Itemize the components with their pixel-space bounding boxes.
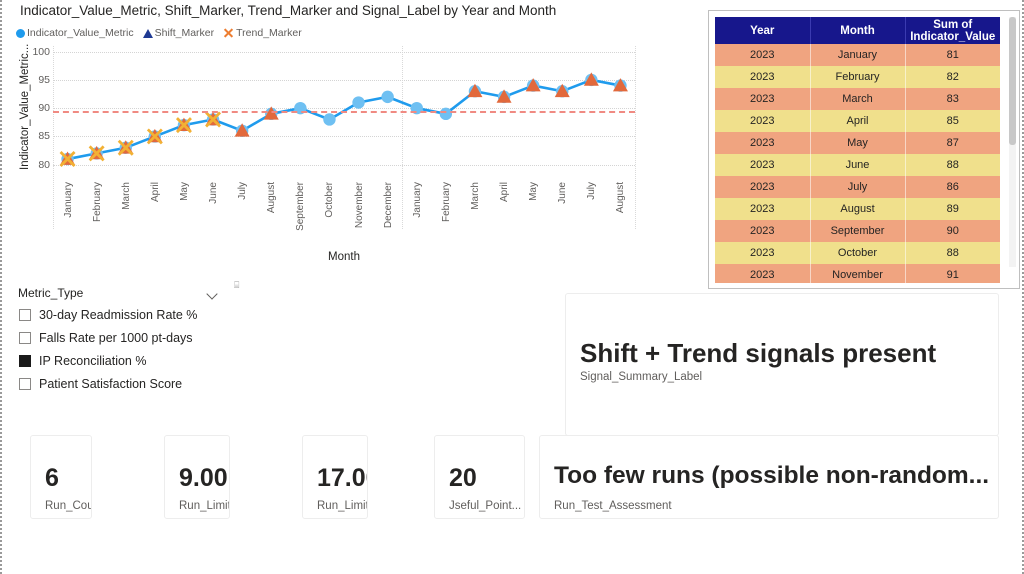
column-header-sum-indicator-value[interactable]: Sum of Indicator_Value [905,17,1000,44]
cell-month: January [810,44,905,66]
card-useful-points[interactable]: 20 Jseful_Point... [434,435,525,519]
card-label: Run_Count [45,500,92,512]
cell-value: 88 [905,242,1000,264]
series-line-indicator-value-metric [68,80,621,159]
chart-title: Indicator_Value_Metric, Shift_Marker, Tr… [20,3,556,18]
table-scroll-region[interactable]: Year Month Sum of Indicator_Value 2023Ja… [715,17,1009,283]
cell-value: 86 [905,176,1000,198]
slicer-item[interactable]: 30-day Readmission Rate % [10,303,225,326]
cell-year: 2023 [715,220,810,242]
table-row[interactable]: 2023March83 [715,88,1000,110]
cell-year: 2023 [715,154,810,176]
cell-year: 2023 [715,132,810,154]
card-value: 20 [449,464,477,493]
slicer-item-label: Falls Rate per 1000 pt-days [39,331,193,345]
cell-month: April [810,110,905,132]
line-chart-visual[interactable]: Indicator_Value_Metric, Shift_Marker, Tr… [6,0,696,278]
x-axis-tick-label: August [266,182,277,213]
cell-month: November [810,264,905,283]
card-value: Too few runs (possible non-random... [554,462,989,490]
data-point-circle[interactable] [381,91,393,103]
resize-handle-icon[interactable]: ⌸ [234,281,243,290]
card-value: 6 [45,464,59,493]
slicer-item-label: 30-day Readmission Rate % [39,308,197,322]
column-header-month[interactable]: Month [810,17,905,44]
cell-year: 2023 [715,66,810,88]
table-row[interactable]: 2023July86 [715,176,1000,198]
card-label: Run_Limit_Min [179,500,230,512]
column-header-year[interactable]: Year [715,17,810,44]
card-label: Jseful_Point... [449,500,521,512]
card-label: Run_Test_Assessment [554,500,672,512]
table-row[interactable]: 2023June88 [715,154,1000,176]
slicer-title: Metric_Type [18,286,83,300]
x-axis-tick-label: June [557,182,568,204]
slicer-item-list: 30-day Readmission Rate %Falls Rate per … [10,303,225,395]
y-axis-tick-label: 80 [28,159,50,171]
cell-value: 87 [905,132,1000,154]
checkbox-icon[interactable] [19,378,31,390]
card-run-limit-min[interactable]: 9.00 Run_Limit_Min [164,435,230,519]
cell-year: 2023 [715,44,810,66]
triangle-marker-icon [143,29,153,38]
y-axis-tick-label: 90 [28,102,50,114]
x-axis-tick-label: October [324,182,335,218]
metric-type-slicer[interactable]: Metric_Type 30-day Readmission Rate %Fal… [10,283,225,395]
cell-month: October [810,242,905,264]
data-table: Year Month Sum of Indicator_Value 2023Ja… [715,17,1000,283]
slicer-item-label: Patient Satisfaction Score [39,377,182,391]
x-axis-tick-label: February [92,182,103,222]
x-axis-tick-label: February [441,182,452,222]
data-point-circle[interactable] [323,113,335,125]
cell-year: 2023 [715,110,810,132]
card-signal-summary[interactable]: Shift + Trend signals present Signal_Sum… [565,293,999,436]
x-axis-tick-label: January [63,182,74,218]
y-axis-tick-label: 85 [28,130,50,142]
cell-month: August [810,198,905,220]
chevron-down-icon[interactable] [208,290,219,297]
table-scrollbar-thumb[interactable] [1009,17,1016,145]
x-axis-tick-label: June [208,182,219,204]
cell-value: 88 [905,154,1000,176]
cell-value: 91 [905,264,1000,283]
x-axis-title: Month [53,251,635,263]
y-axis-tick-label: 100 [28,46,50,58]
cell-month: June [810,154,905,176]
x-axis-tick-label: April [499,182,510,202]
cell-year: 2023 [715,242,810,264]
year-separator-line [635,46,636,229]
report-canvas: Indicator_Value_Metric, Shift_Marker, Tr… [0,0,1024,574]
cell-value: 81 [905,44,1000,66]
card-run-limit-max[interactable]: 17.00 Run_Limit_Max [302,435,368,519]
x-axis-tick-label: September [295,182,306,231]
x-axis-tick-label: July [586,182,597,200]
x-axis-tick-label: December [383,182,394,228]
chart-legend: Indicator_Value_Metric Shift_Marker Tren… [16,27,302,39]
x-axis-tick-label: April [150,182,161,202]
table-row[interactable]: 2023January81 [715,44,1000,66]
slicer-item-label: IP Reconciliation % [39,354,146,368]
card-label: Run_Limit_Max [317,500,368,512]
legend-item-shift-marker[interactable]: Shift_Marker [143,27,215,39]
table-header-row: Year Month Sum of Indicator_Value [715,17,1000,44]
data-point-circle[interactable] [352,96,364,108]
table-body: 2023January812023February822023March8320… [715,44,1000,283]
table-scrollbar[interactable] [1009,17,1016,267]
x-axis-tick-label: May [528,182,539,201]
cell-month: September [810,220,905,242]
table-row[interactable]: 2023April85 [715,110,1000,132]
table-row[interactable]: 2023August89 [715,198,1000,220]
cell-year: 2023 [715,176,810,198]
checkbox-icon[interactable] [19,332,31,344]
x-marker-icon [223,28,234,39]
x-axis-tick-label: August [615,182,626,213]
cell-year: 2023 [715,264,810,283]
cell-month: July [810,176,905,198]
cell-year: 2023 [715,88,810,110]
table-row[interactable]: 2023February82 [715,66,1000,88]
slicer-item[interactable]: Patient Satisfaction Score [10,372,225,395]
card-run-test-assessment[interactable]: Too few runs (possible non-random... Run… [539,435,999,519]
slicer-header[interactable]: Metric_Type [10,283,225,303]
x-axis-tick-label: January [412,182,423,218]
legend-label: Trend_Marker [236,27,302,39]
x-axis-tick-label: March [121,182,132,210]
table-row[interactable]: 2023November91 [715,264,1000,283]
checkbox-icon[interactable] [19,309,31,321]
checkbox-checked-icon[interactable] [19,355,31,367]
cell-value: 89 [905,198,1000,220]
cell-value: 83 [905,88,1000,110]
cell-month: March [810,88,905,110]
signal-reference-line [53,111,635,113]
table-row[interactable]: 2023May87 [715,132,1000,154]
x-axis-tick-label: March [470,182,481,210]
legend-label: Shift_Marker [155,27,215,39]
card-value: 17.00 [317,464,368,493]
cell-year: 2023 [715,198,810,220]
table-row[interactable]: 2023September90 [715,220,1000,242]
card-run-count[interactable]: 6 Run_Count [30,435,92,519]
slicer-item[interactable]: Falls Rate per 1000 pt-days [10,326,225,349]
legend-item-trend-marker[interactable]: Trend_Marker [223,27,302,39]
y-axis-tick-label: 95 [28,74,50,86]
data-point-circle[interactable] [440,108,452,120]
slicer-item[interactable]: IP Reconciliation % [10,349,225,372]
cell-value: 82 [905,66,1000,88]
x-axis-tick-label: May [179,182,190,201]
x-axis-tick-label: July [237,182,248,200]
chart-plot-area[interactable] [53,46,635,176]
y-axis-ticks: 80859095100 [14,0,50,278]
card-value: 9.00 [179,464,228,493]
cell-month: May [810,132,905,154]
x-axis-tick-label: November [354,182,365,228]
cell-month: February [810,66,905,88]
cell-value: 85 [905,110,1000,132]
matrix-table-visual[interactable]: Year Month Sum of Indicator_Value 2023Ja… [708,10,1020,289]
cell-value: 90 [905,220,1000,242]
table-row[interactable]: 2023October88 [715,242,1000,264]
card-value: Shift + Trend signals present [580,338,936,369]
card-label: Signal_Summary_Label [580,371,702,383]
